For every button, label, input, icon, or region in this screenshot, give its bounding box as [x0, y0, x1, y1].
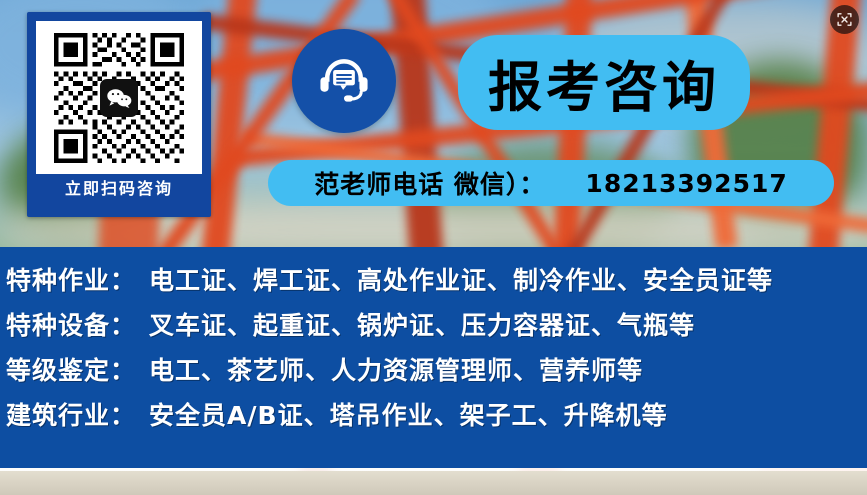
info-colon: ：: [110, 396, 135, 432]
scan-frame-button[interactable]: [830, 5, 859, 34]
certificate-categories-panel: 特种作业 ： 电工证、焊工证、高处作业证、制冷作业、安全员证等 特种设备 ： 叉…: [0, 247, 867, 468]
info-value: 电工、茶艺师、人力资源管理师、营养师等: [149, 351, 643, 387]
customer-service-button[interactable]: [292, 29, 396, 133]
info-value: 安全员A/B证、塔吊作业、架子工、升降机等: [149, 396, 668, 432]
info-colon: ：: [110, 306, 135, 342]
info-value: 叉车证、起重证、锅炉证、压力容器证、气瓶等: [149, 306, 695, 342]
qr-code-icon[interactable]: [36, 21, 202, 174]
info-colon: ：: [110, 261, 135, 297]
info-label: 特种设备: [6, 306, 110, 342]
ad-banner[interactable]: 立即扫码咨询 报考咨询 范老师电话 微信）： 18213392517: [0, 0, 867, 495]
info-row-special-operations: 特种作业 ： 电工证、焊工证、高处作业证、制冷作业、安全员证等: [6, 261, 867, 306]
info-label: 特种作业: [6, 261, 110, 297]
headset-chat-icon: [315, 50, 373, 113]
info-row-special-equipment: 特种设备 ： 叉车证、起重证、锅炉证、压力容器证、气瓶等: [6, 306, 867, 351]
bottom-photo-strip: [0, 471, 867, 495]
apply-consult-title-pill[interactable]: 报考咨询: [458, 35, 750, 130]
info-label: 建筑行业: [6, 396, 110, 432]
scan-frame-icon: [836, 11, 853, 28]
apply-consult-title-text: 报考咨询: [488, 43, 720, 122]
info-colon: ：: [110, 351, 135, 387]
wechat-icon: [100, 79, 138, 117]
info-value: 电工证、焊工证、高处作业证、制冷作业、安全员证等: [149, 261, 773, 297]
teacher-phone-pill[interactable]: 范老师电话 微信）： 18213392517: [268, 160, 834, 206]
info-row-construction-industry: 建筑行业 ： 安全员A/B证、塔吊作业、架子工、升降机等: [6, 396, 867, 441]
info-row-grade-assessment: 等级鉴定 ： 电工、茶艺师、人力资源管理师、营养师等: [6, 351, 867, 396]
info-label: 等级鉴定: [6, 351, 110, 387]
qr-card-caption: 立即扫码咨询: [65, 181, 173, 197]
panel-divider: [0, 468, 867, 471]
teacher-phone-number[interactable]: 18213392517: [585, 169, 787, 198]
teacher-phone-label: 范老师电话 微信）：: [314, 165, 545, 201]
qr-card[interactable]: 立即扫码咨询: [27, 12, 211, 217]
